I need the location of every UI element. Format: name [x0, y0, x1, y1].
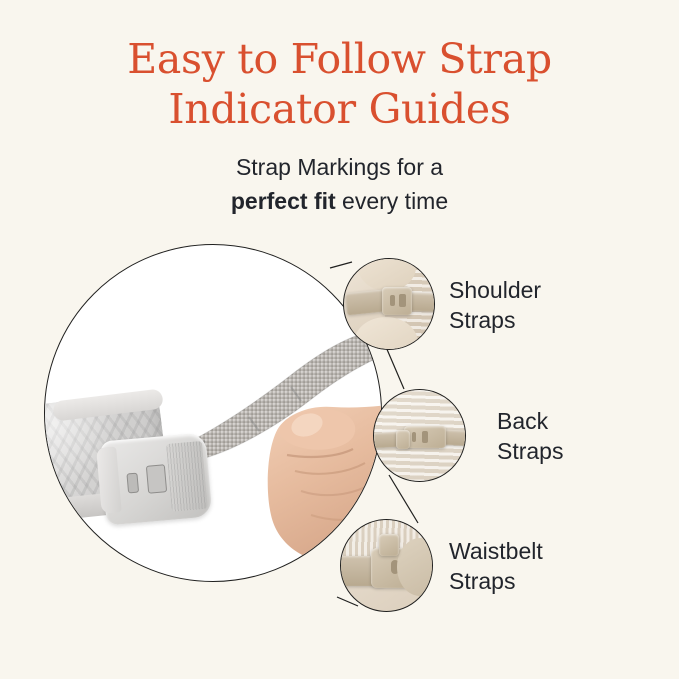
subtitle-emphasis: perfect fit [231, 188, 336, 214]
buckle-slot-2 [422, 431, 428, 443]
photo-scene [45, 245, 381, 581]
callout-shoulder-photo [343, 258, 435, 350]
callout-back-photo [373, 389, 466, 482]
buckle-slot-2 [399, 294, 406, 307]
buckle-slot [390, 295, 395, 306]
buckle-post [379, 534, 399, 556]
callout-label-waistbelt: Waistbelt Straps [449, 536, 543, 596]
page-title: Easy to Follow Strap Indicator Guides [0, 34, 679, 134]
side-release-buckle [100, 433, 213, 526]
callout-label-back: Back Straps [497, 406, 563, 466]
callout-label-shoulder: Shoulder Straps [449, 275, 541, 335]
buckle-slot-large [146, 464, 167, 494]
buckle [382, 287, 412, 315]
page-subtitle: Strap Markings for a perfect fit every t… [0, 150, 679, 218]
promo-graphic: Easy to Follow Strap Indicator Guides St… [0, 0, 679, 679]
subtitle-suffix: every time [336, 188, 448, 214]
callout-back-art [374, 390, 465, 481]
subtitle-prefix: Strap Markings for a [236, 154, 443, 180]
callout-shoulder-art [344, 259, 434, 349]
callout-waistbelt-photo [340, 519, 433, 612]
buckle-slot-small [126, 473, 139, 494]
main-product-photo [44, 244, 382, 582]
buckle-webbing-tail [166, 441, 208, 512]
buckle-slot-1 [412, 432, 416, 442]
buckle-tab [396, 430, 410, 449]
callout-waist-art [341, 520, 432, 611]
